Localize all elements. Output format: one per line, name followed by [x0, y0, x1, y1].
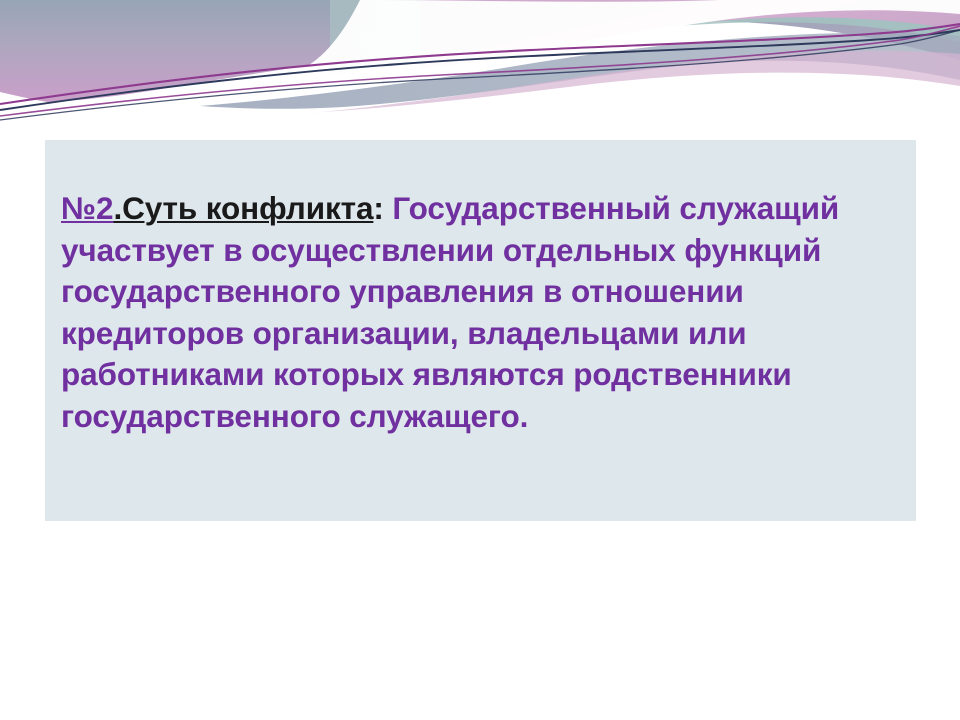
wave-white-swoosh-lower	[0, 73, 960, 125]
heading-label: .Суть конфликта	[113, 190, 373, 226]
body-paragraph: Государственный служащий участвует в осу…	[61, 190, 839, 434]
decorative-wave-banner	[0, 0, 960, 125]
slide-body-text: №2.Суть конфликта: Государственный служа…	[61, 188, 906, 437]
wave-line-navy	[0, 30, 960, 110]
wave-band-pale-pink	[250, 51, 960, 121]
item-number-label: №2	[61, 190, 113, 226]
text-content-box: №2.Суть конфликта: Государственный служа…	[45, 140, 916, 521]
wave-line-purple-secondary	[0, 26, 960, 116]
wave-line-navy-secondary	[0, 30, 960, 120]
wave-band-teal	[330, 0, 960, 74]
wave-line-purple	[0, 24, 960, 104]
presentation-slide: №2.Суть конфликта: Государственный служа…	[0, 0, 960, 720]
wave-band-left	[0, 0, 960, 104]
wave-graphic	[0, 0, 960, 125]
wave-white-swoosh-upper	[300, 0, 960, 88]
wave-band-slate	[200, 33, 960, 109]
wave-band-right-top	[420, 0, 960, 68]
heading-colon: :	[373, 190, 383, 226]
